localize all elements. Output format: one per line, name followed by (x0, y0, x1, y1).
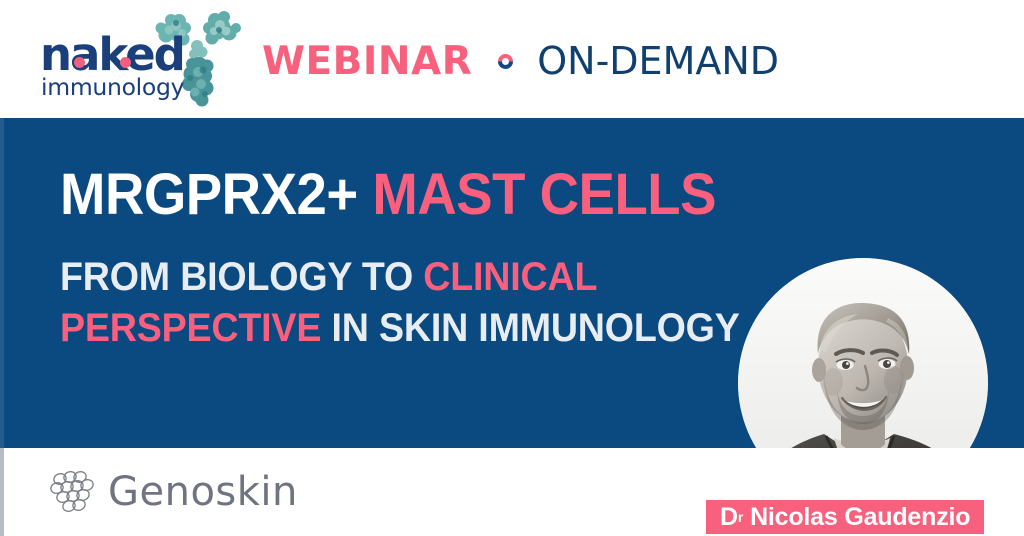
webinar-label: WEBINAR (262, 42, 472, 81)
title-receptor: MRGPRX2+ (60, 162, 358, 227)
subtitle-line-1: FROM BIOLOGY TO CLINICAL (60, 252, 680, 303)
subtitle: FROM BIOLOGY TO CLINICAL PERSPECTIVE IN … (60, 252, 680, 354)
banner-header: naked immunology WEBINAR ON-DEMAND (0, 0, 1024, 118)
naked-immunology-logo[interactable]: naked immunology (40, 6, 250, 116)
subtitle-skin-immunology: IN SKIN IMMUNOLOGY (331, 306, 739, 350)
logo-dot-a-icon (74, 57, 85, 68)
webinar-promo-banner: naked immunology WEBINAR ON-DEMAND MRGPR… (0, 0, 1024, 536)
speaker-name-badge: Dr Nicolas Gaudenzio (706, 500, 984, 534)
band-left-edge (0, 118, 4, 448)
logo-word-naked: naked (40, 34, 180, 75)
circle-dot-separator-icon (498, 54, 513, 69)
logo-dot-e-icon (120, 57, 131, 68)
title-block: MRGPRX2+ MAST CELLS FROM BIOLOGY TO CLIN… (60, 166, 720, 354)
title-celltype: MAST CELLS (372, 162, 716, 227)
on-demand-label: ON-DEMAND (537, 42, 779, 80)
genoskin-logo[interactable]: Genoskin (48, 464, 298, 520)
subtitle-perspective: PERSPECTIVE (60, 306, 321, 350)
speaker-honorific: D (720, 505, 738, 530)
subtitle-from-biology: FROM BIOLOGY TO (60, 255, 413, 299)
footer-left-edge (0, 448, 4, 536)
subtitle-clinical: CLINICAL (423, 255, 597, 299)
cell-cluster-logo-icon (48, 469, 104, 515)
main-title: MRGPRX2+ MAST CELLS (60, 166, 680, 224)
genoskin-wordmark: Genoskin (108, 472, 298, 512)
banner-main-band: MRGPRX2+ MAST CELLS FROM BIOLOGY TO CLIN… (0, 118, 1024, 448)
naked-immunology-wordmark: naked immunology (40, 34, 180, 100)
header-label-group: WEBINAR ON-DEMAND (262, 38, 779, 84)
speaker-name: Nicolas Gaudenzio (750, 505, 970, 530)
subtitle-line-2: PERSPECTIVE IN SKIN IMMUNOLOGY (60, 303, 680, 354)
